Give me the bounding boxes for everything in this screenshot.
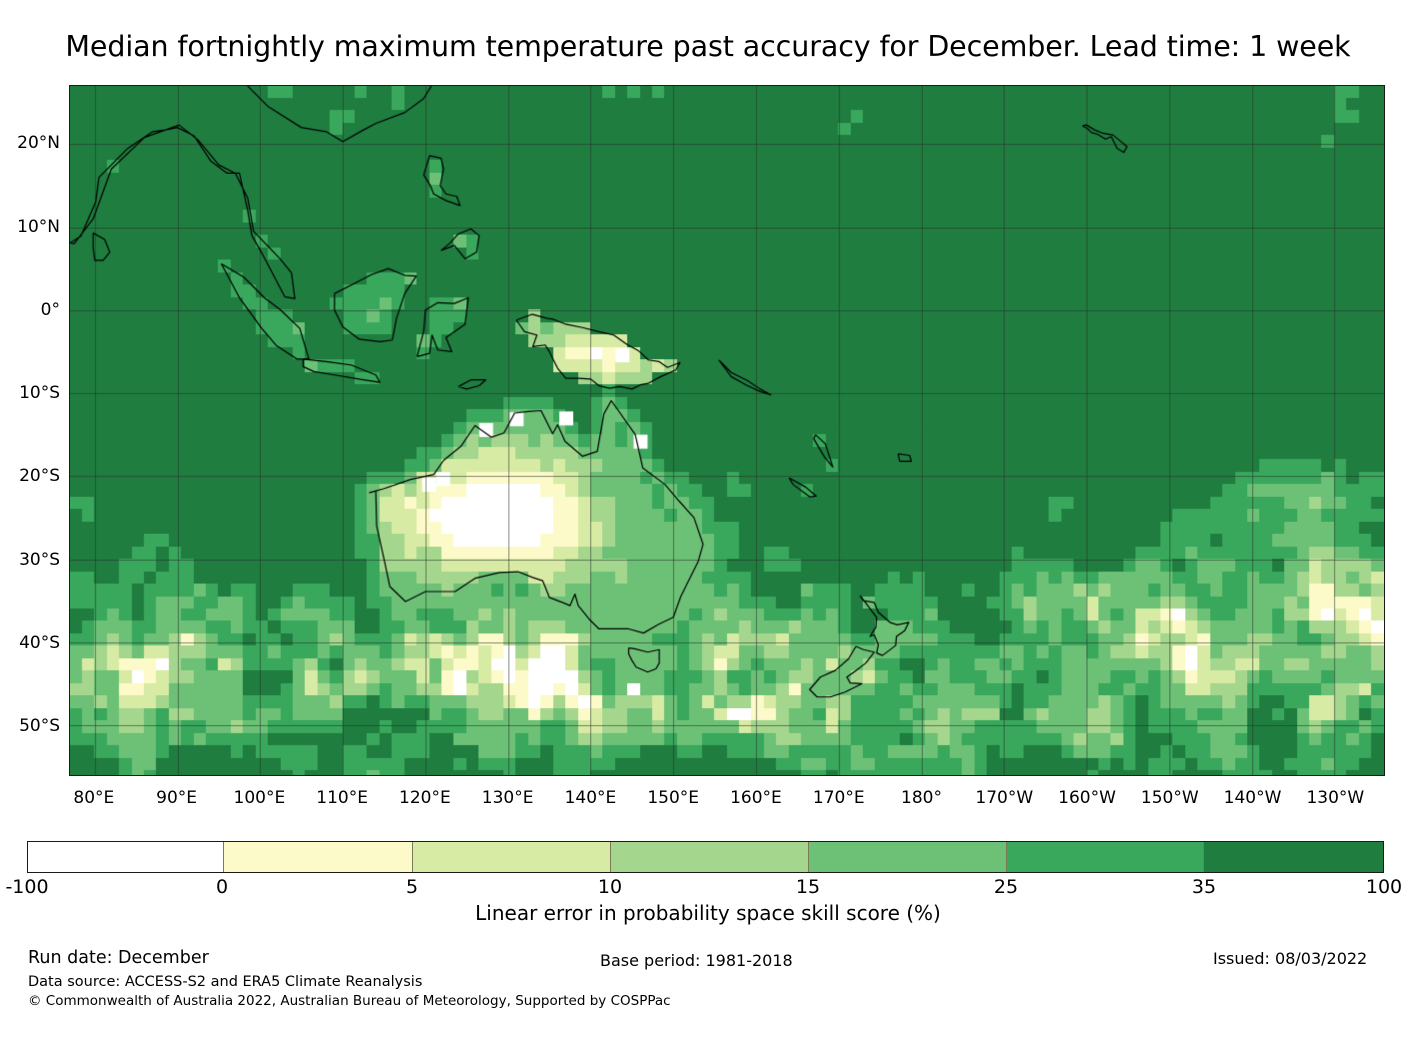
base-period-text: Base period: 1981-2018: [600, 951, 793, 970]
y-tick-label: 30°S: [0, 550, 60, 570]
issued-date-text: Issued: 08/03/2022: [1213, 949, 1367, 968]
colorbar-tick-label: 25: [994, 876, 1018, 898]
run-date-text: Run date: December: [28, 948, 209, 968]
x-tick-label: 180°: [901, 788, 942, 808]
y-tick-label: 20°N: [0, 133, 60, 153]
colorbar-band: [1006, 842, 1204, 872]
x-tick-label: 130°E: [482, 788, 534, 808]
y-tick-label: 50°S: [0, 716, 60, 736]
y-tick-label: 20°S: [0, 466, 60, 486]
y-tick-label: 0°: [0, 300, 60, 320]
x-tick-label: 80°E: [73, 788, 114, 808]
x-tick-label: 160°W: [1058, 788, 1116, 808]
colorbar-band: [610, 842, 808, 872]
x-tick-label: 110°E: [316, 788, 368, 808]
x-tick-label: 100°E: [234, 788, 286, 808]
colorbar-band: [1203, 842, 1383, 872]
colorbar-band: [28, 842, 223, 872]
y-tick-label: 10°S: [0, 383, 60, 403]
y-tick-label: 10°N: [0, 217, 60, 237]
colorbar-band: [412, 842, 610, 872]
colorbar-tick-label: 100: [1366, 876, 1402, 898]
data-source-text: Data source: ACCESS-S2 and ERA5 Climate …: [28, 974, 422, 990]
colorbar-tick-label: 35: [1192, 876, 1216, 898]
copyright-text: © Commonwealth of Australia 2022, Austra…: [28, 993, 671, 1009]
colorbar-band: [808, 842, 1006, 872]
x-tick-label: 130°W: [1306, 788, 1364, 808]
colorbar-label: Linear error in probability space skill …: [475, 901, 941, 925]
x-tick-label: 160°E: [730, 788, 782, 808]
map-plot-area[interactable]: [69, 85, 1385, 776]
x-tick-label: 140°E: [565, 788, 617, 808]
x-tick-label: 140°W: [1224, 788, 1282, 808]
colorbar-tick-label: 0: [216, 876, 228, 898]
x-tick-label: 170°W: [975, 788, 1033, 808]
x-tick-label: 170°E: [813, 788, 865, 808]
y-tick-label: 40°S: [0, 633, 60, 653]
x-tick-label: 150°E: [647, 788, 699, 808]
page-title: Median fortnightly maximum temperature p…: [65, 30, 1350, 63]
figure-root: Median fortnightly maximum temperature p…: [0, 0, 1416, 1050]
x-tick-label: 150°W: [1141, 788, 1199, 808]
skill-score-heatmap: [70, 86, 1384, 775]
colorbar-band: [223, 842, 413, 872]
colorbar-tick-label: -100: [5, 876, 48, 898]
colorbar[interactable]: [27, 841, 1384, 873]
colorbar-tick-label: 10: [598, 876, 622, 898]
colorbar-tick-label: 5: [406, 876, 418, 898]
x-tick-label: 120°E: [399, 788, 451, 808]
x-tick-label: 90°E: [156, 788, 197, 808]
colorbar-tick-label: 15: [796, 876, 820, 898]
